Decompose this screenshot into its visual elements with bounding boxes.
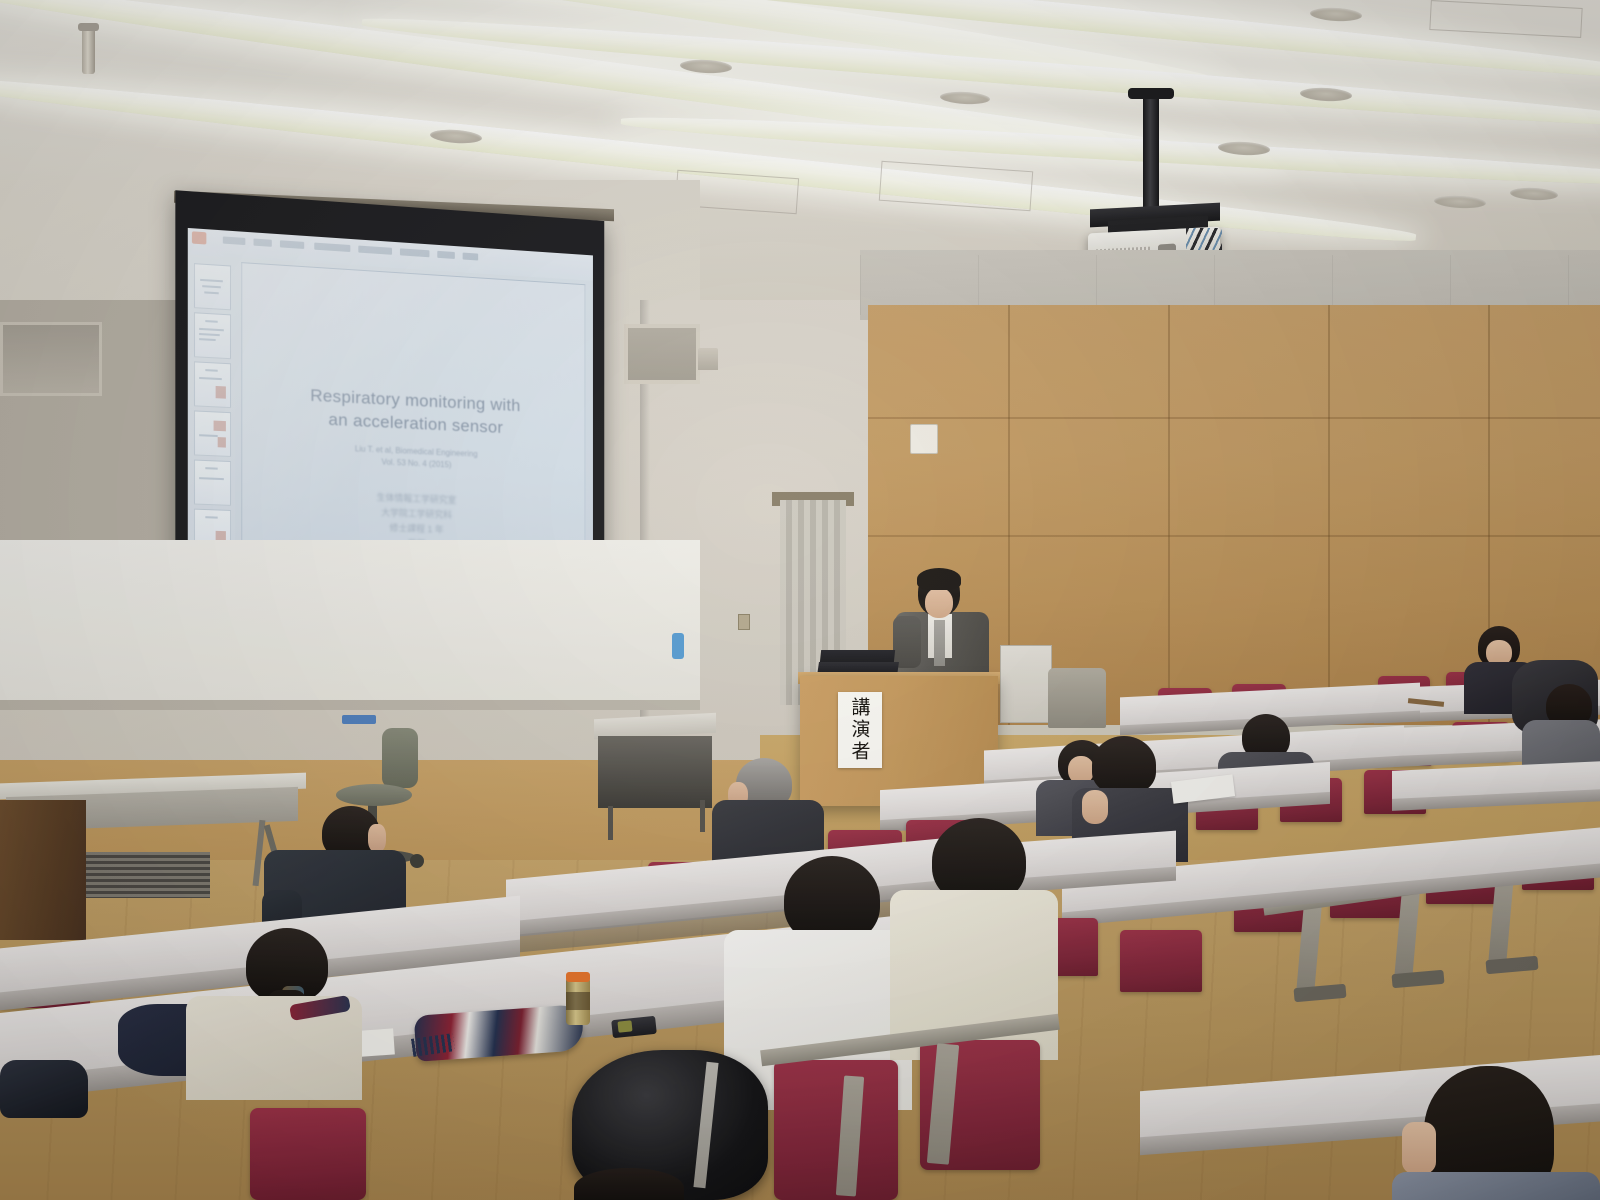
ribbon-tab-design[interactable] <box>280 240 304 249</box>
whiteboard-tray <box>0 700 700 710</box>
bottle-cap <box>566 972 590 982</box>
slide-title: Respiratory monitoring with an accelerat… <box>261 381 568 442</box>
speaker-hair <box>917 568 961 590</box>
seat[interactable] <box>1120 930 1202 992</box>
ribbon-tab-review[interactable] <box>437 251 455 259</box>
wall-vent-grille-icon <box>624 324 700 384</box>
ribbon-tab-view[interactable] <box>463 253 479 261</box>
person-hand <box>1402 1122 1436 1174</box>
ribbon-tab-slideshow[interactable] <box>400 248 429 257</box>
stool-backrest <box>382 728 418 788</box>
person-head <box>1092 736 1156 794</box>
wall-outlet-icon <box>738 614 750 630</box>
whiteboard <box>0 540 700 710</box>
ribbon-tab-transitions[interactable] <box>314 243 350 252</box>
speaker-tie <box>934 620 945 666</box>
person-head <box>574 1168 684 1200</box>
wood-seam <box>868 417 1600 419</box>
bottle-label <box>566 992 590 1010</box>
wood-seam <box>1168 305 1170 725</box>
light-switch-plate[interactable] <box>910 424 938 454</box>
floor-vent-grille-icon <box>84 852 210 898</box>
wood-seam <box>1328 305 1330 725</box>
slide-thumbnail[interactable] <box>194 460 231 506</box>
equipment-table-body <box>598 736 712 808</box>
slide-thumbnail[interactable] <box>194 410 231 457</box>
projector-ceiling-pole <box>1143 92 1159 210</box>
lecture-hall-photo: Respiratory monitoring with an accelerat… <box>0 0 1600 1200</box>
ceiling-sprinkler-icon <box>82 28 95 74</box>
stool-caster <box>410 854 424 868</box>
person-torso <box>1392 1172 1600 1200</box>
podium-speaker-sign: 講演者 <box>838 692 882 768</box>
person-face <box>368 824 386 852</box>
slide-subtitle: Liu T. et al, Biomedical Engineering Vol… <box>273 440 556 476</box>
slide-thumbnail[interactable] <box>194 312 231 359</box>
stool-seat[interactable] <box>336 784 412 806</box>
speaker-arm <box>893 616 921 668</box>
ribbon-tab-insert[interactable] <box>254 239 272 247</box>
dark-bag <box>0 1060 88 1118</box>
podium-sign-text: 講演者 <box>847 697 874 763</box>
speaker-face <box>925 588 953 618</box>
blue-bottle-on-ledge <box>672 633 684 659</box>
wood-lectern-panel <box>0 800 86 940</box>
projector-ceiling-plate <box>1128 88 1174 99</box>
powerpoint-logo-icon <box>192 231 206 244</box>
slide-thumbnail[interactable] <box>194 361 231 408</box>
wood-seam <box>868 535 1600 537</box>
seat[interactable] <box>250 1108 366 1200</box>
wall-recess-panel <box>0 322 102 396</box>
table-leg <box>700 800 705 832</box>
wall-speaker-icon <box>698 348 718 370</box>
ribbon-tab-animations[interactable] <box>358 246 392 255</box>
front-chair[interactable] <box>1048 668 1106 728</box>
ribbon-tab-home[interactable] <box>223 236 246 245</box>
side-cabinet <box>1000 645 1052 723</box>
person-hand <box>1082 790 1108 824</box>
table-leg <box>608 806 613 840</box>
slide-thumbnail[interactable] <box>194 263 231 310</box>
whiteboard-marker[interactable] <box>342 715 376 724</box>
smartphone-screen <box>617 1020 632 1032</box>
